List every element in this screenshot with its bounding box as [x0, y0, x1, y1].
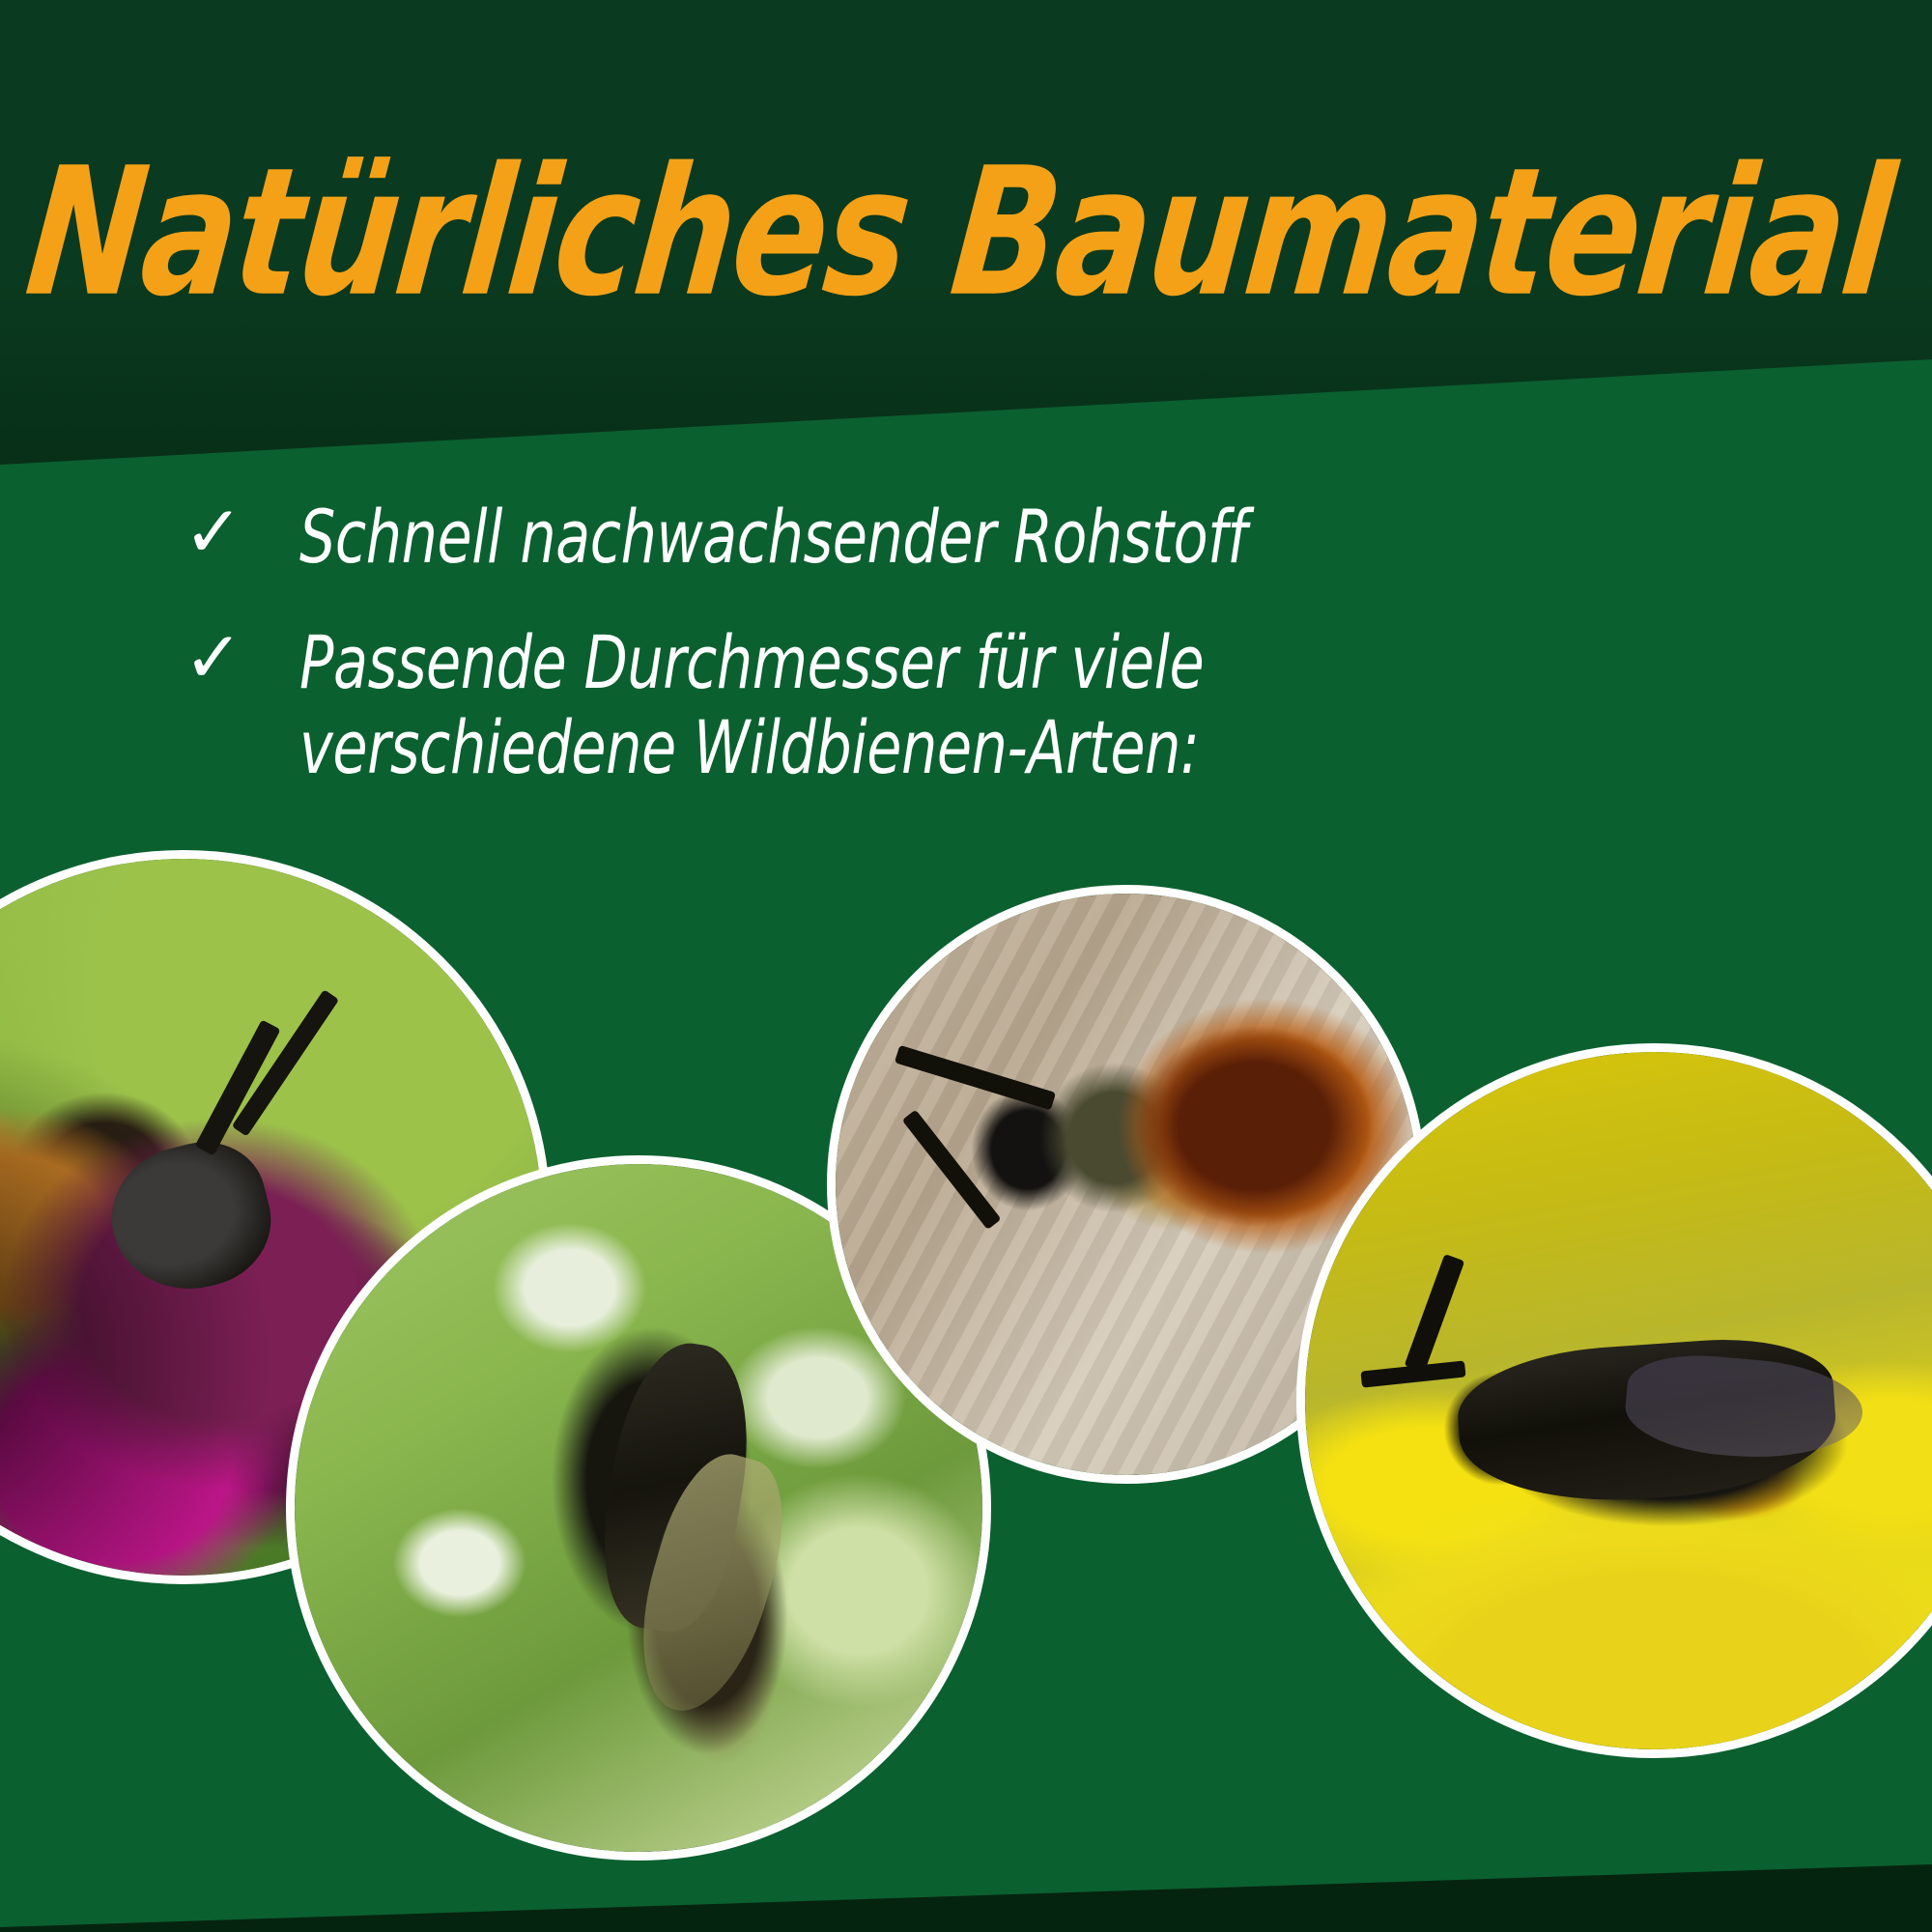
list-item: ✓ Schnell nachwachsender Rohstoff [184, 495, 1729, 580]
bullet-text: Passende Durchmesser für viele verschied… [299, 620, 1529, 790]
bullet-text: Schnell nachwachsender Rohstoff [299, 495, 1529, 580]
poster-root: Natürliches Baumaterial ✓ Schnell nachwa… [0, 0, 1932, 1932]
bee-antenna-shape [895, 1044, 1056, 1110]
check-icon: ✓ [184, 495, 299, 566]
bee-photo-black-bee-on-yellow-flower [1305, 1052, 1932, 1749]
feature-bullet-list: ✓ Schnell nachwachsender Rohstoff ✓ Pass… [184, 495, 1729, 831]
bee-antenna-shape [1404, 1254, 1463, 1373]
bee-head-shape [97, 1128, 284, 1305]
check-icon: ✓ [184, 620, 299, 692]
page-title: Natürliches Baumaterial [20, 145, 1893, 322]
list-item: ✓ Passende Durchmesser für viele verschi… [184, 620, 1729, 790]
bee-antenna-shape [902, 1109, 1002, 1230]
